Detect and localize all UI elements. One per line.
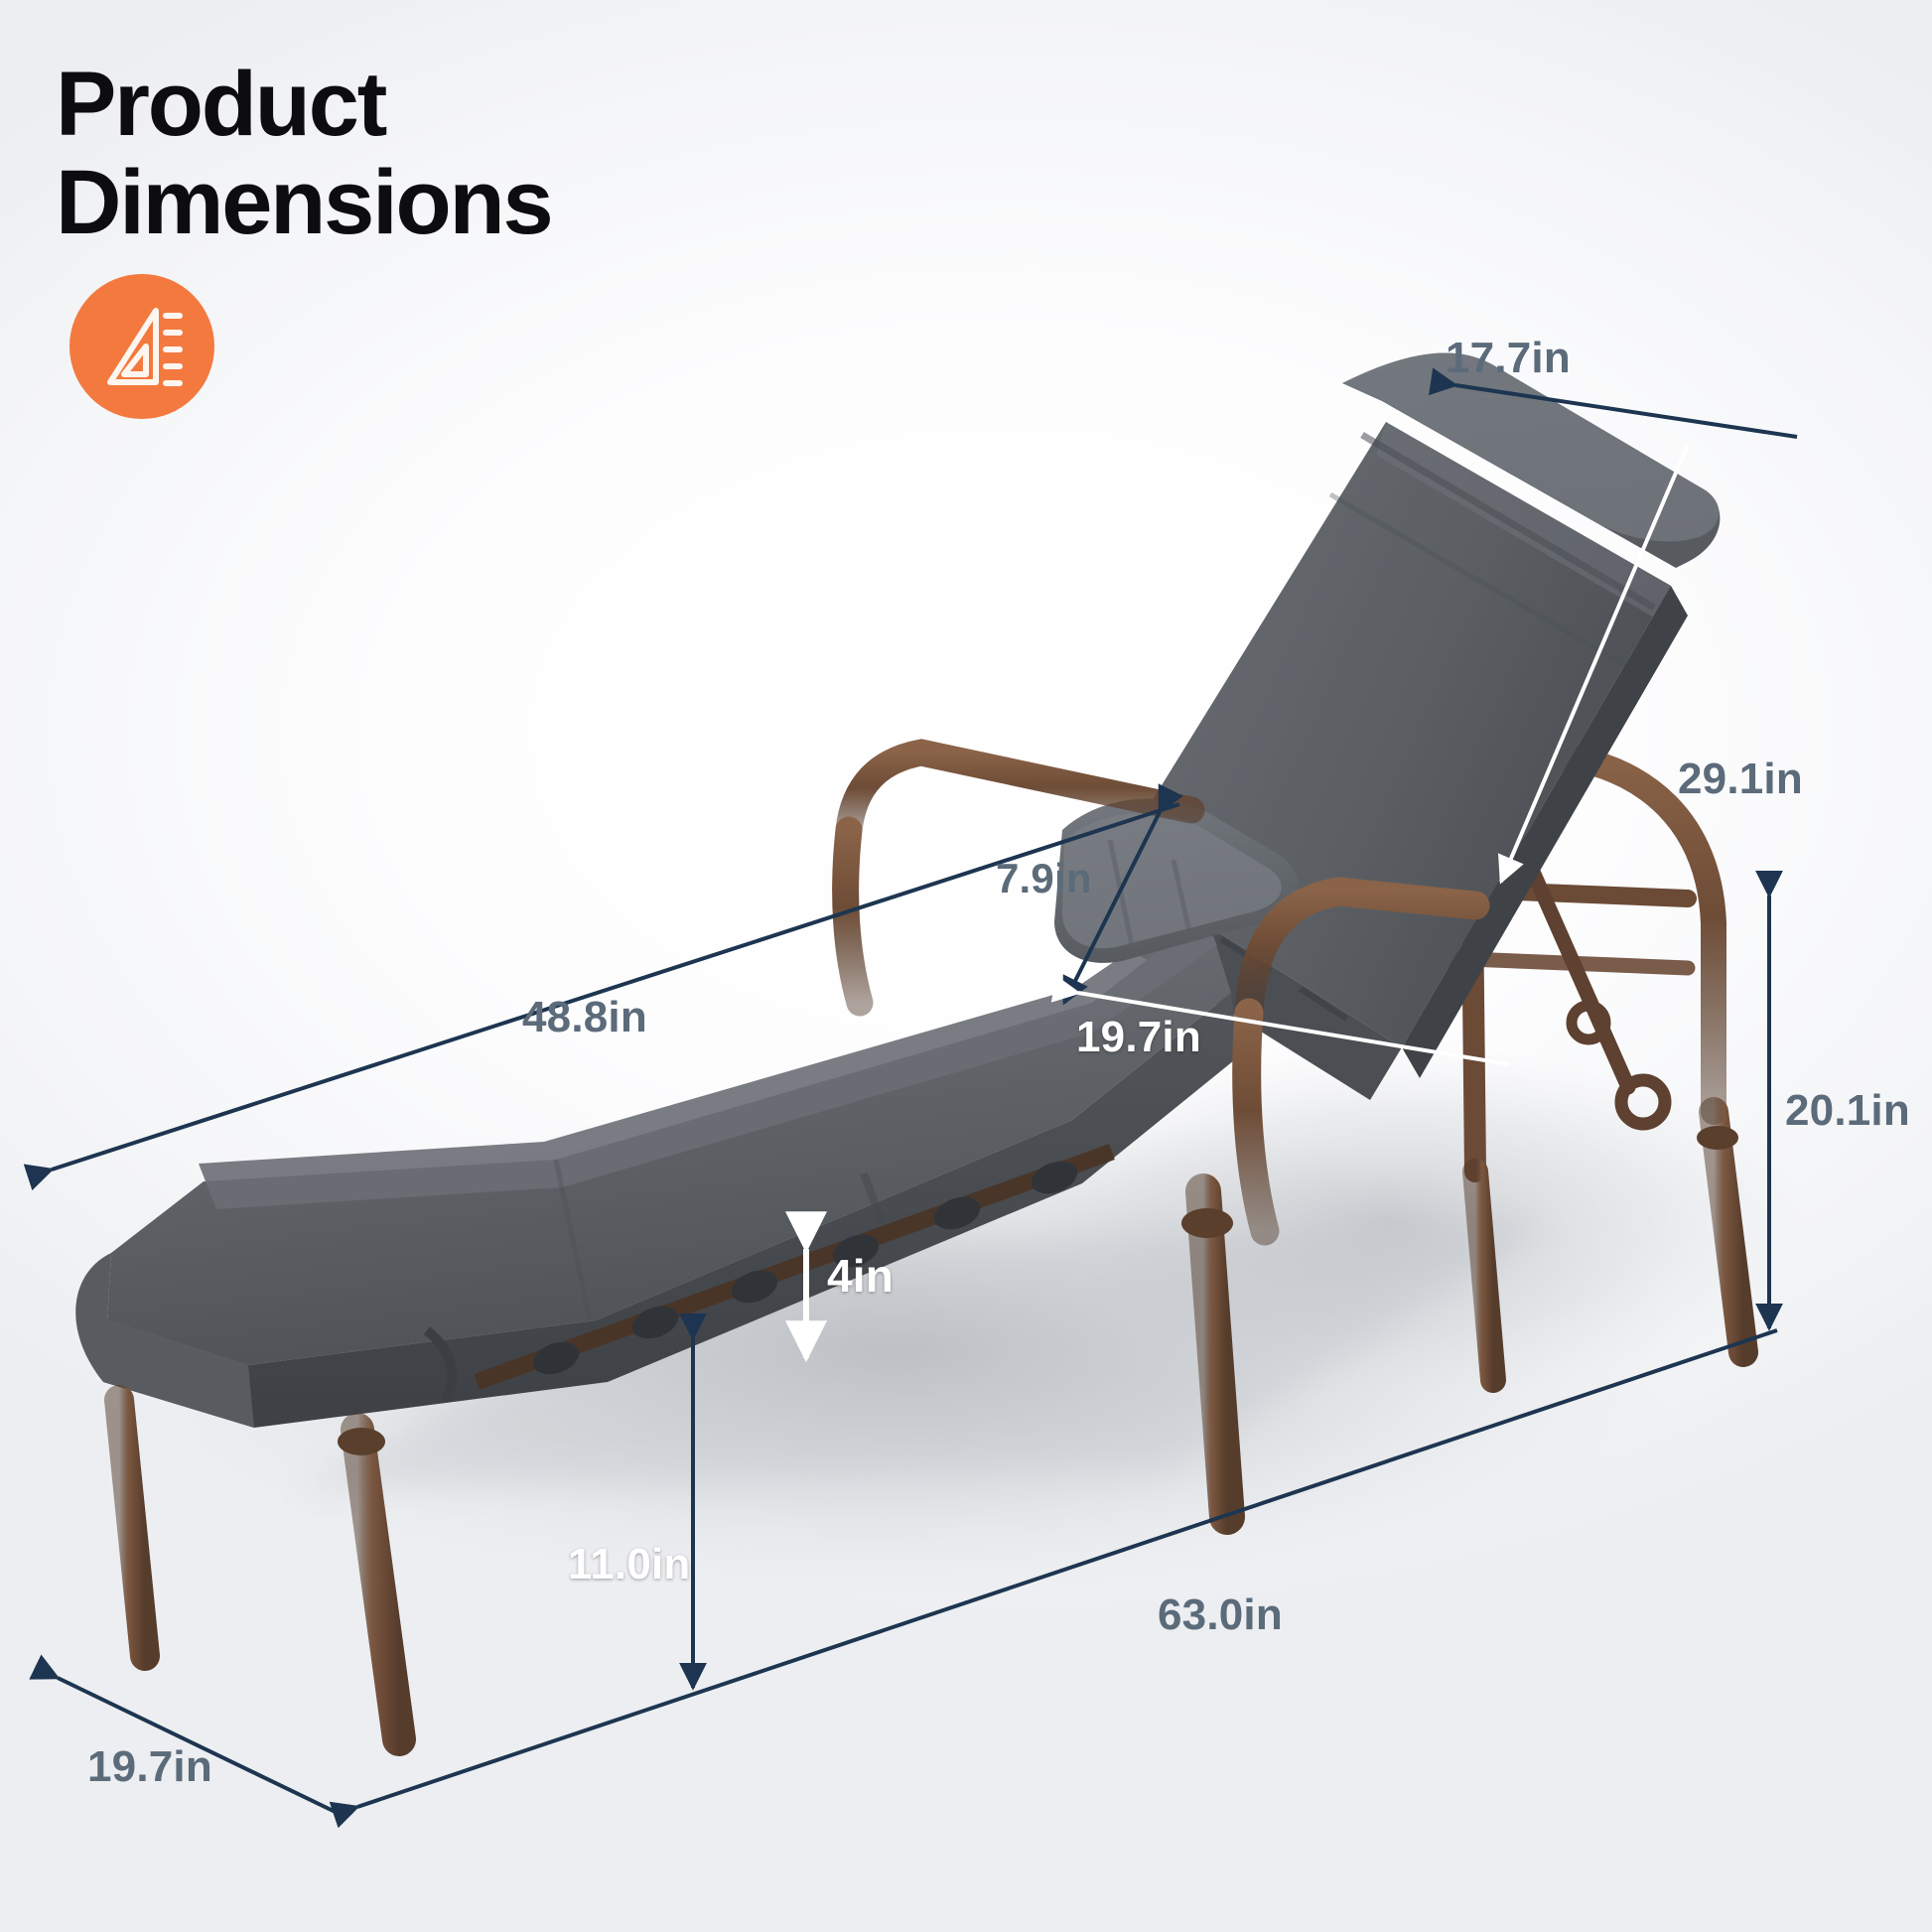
dimension-label-cushion-thickness: 4in — [827, 1249, 894, 1303]
dimension-label-seat-depth: 19.7in — [1076, 1013, 1201, 1062]
dimension-label-cushion-length: 48.8in — [522, 993, 647, 1042]
dimension-label-seat-rise: 7.9in — [996, 855, 1092, 902]
dimension-label-seat-height: 11.0in — [568, 1540, 691, 1589]
dimension-label-overall-width: 19.7in — [87, 1742, 212, 1792]
product-photo-chaise-lounge — [0, 0, 1932, 1932]
dimension-label-overall-length: 63.0in — [1158, 1590, 1283, 1640]
dimension-label-frame-seat-height: 20.1in — [1785, 1086, 1910, 1136]
product-dimensions-infographic: Product Dimensions — [0, 0, 1932, 1932]
dimension-label-backrest-height: 29.1in — [1678, 755, 1803, 804]
dimension-label-backrest-width: 17.7in — [1446, 334, 1571, 383]
